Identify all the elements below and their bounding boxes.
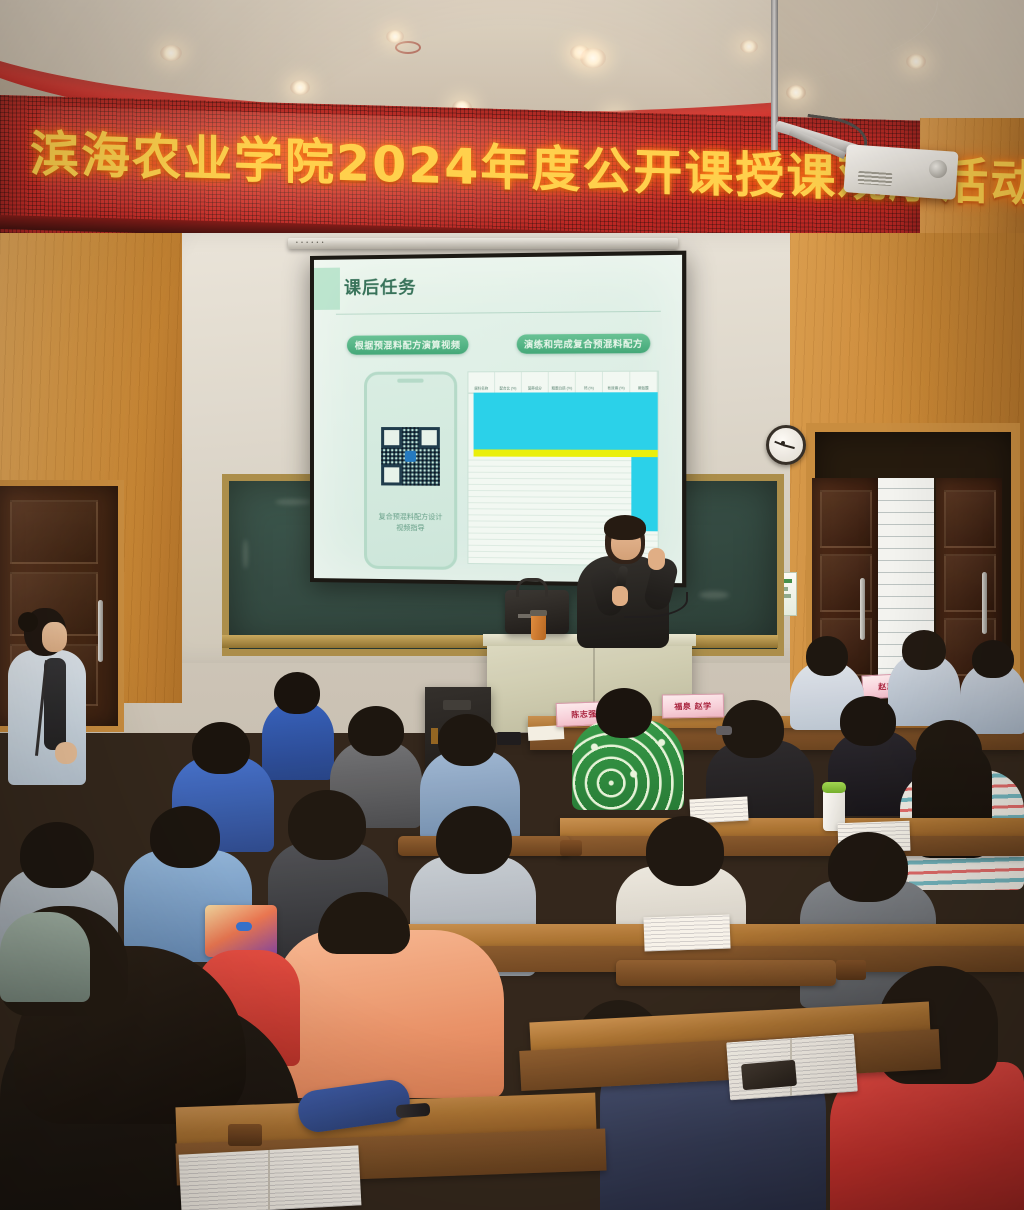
bench-backrest-2 xyxy=(616,960,836,986)
pencil-case xyxy=(741,1060,797,1091)
projector-vent-icon xyxy=(858,171,893,186)
audience-head-row2-light xyxy=(436,806,512,874)
downlight-icon xyxy=(290,80,310,95)
audience-head-back-3 xyxy=(972,640,1014,678)
audience-head-row2-far-left xyxy=(20,822,94,888)
qr-caption-line-1: 复合预混料配方设计 xyxy=(367,511,454,523)
slide-accent-block xyxy=(314,268,340,310)
nameplate-2: 福泉 赵学 xyxy=(662,693,724,718)
observer-face xyxy=(42,622,67,652)
open-book-front-left xyxy=(179,1145,362,1210)
spreadsheet-header-cell: 配合比 (%) xyxy=(495,372,522,392)
pouch-character-icon xyxy=(236,922,252,931)
roller-brand-label: • • • • • • xyxy=(296,240,324,246)
right-door-handle-left[interactable] xyxy=(860,578,865,640)
audience-head-row2-denim xyxy=(150,806,220,868)
presenter-right-hand xyxy=(648,548,665,570)
spreadsheet-header-row: 原料名称 配合比 (%) 营养成分 粗蛋白质 (%) 钙 (%) 有效磷 (%)… xyxy=(468,372,657,394)
qr-code-icon xyxy=(381,427,440,486)
bench-bracket-4 xyxy=(228,1124,262,1146)
qr-caption-line-2: 视频指导 xyxy=(367,523,454,535)
qr-center-logo xyxy=(405,451,416,462)
slide-title: 课后任务 xyxy=(344,273,417,299)
slide-phone-mockup: 复合预混料配方设计 视频指导 xyxy=(364,371,457,570)
right-door-handle-right[interactable] xyxy=(982,572,987,634)
presenter-hair xyxy=(604,515,646,540)
slide-divider xyxy=(336,311,661,315)
orange-mug xyxy=(531,614,546,640)
open-book-row2 xyxy=(643,915,730,952)
phone-notch-icon xyxy=(397,379,423,383)
slide-task-pill-right: 演练和完成复合预混料配方 xyxy=(517,334,651,354)
downlight-icon xyxy=(160,45,182,61)
audience-person-orange-shirt xyxy=(276,930,504,1098)
wall-clock xyxy=(766,425,806,465)
observer-inner-top xyxy=(44,658,66,750)
audience-head-back-4 xyxy=(274,672,320,714)
clock-center-pin xyxy=(781,441,785,445)
spreadsheet-yellow-highlight xyxy=(474,449,658,457)
speaker-driver-icon xyxy=(443,700,471,710)
ceiling-vent-icon xyxy=(395,41,421,54)
audience-head-back-2 xyxy=(902,630,946,670)
spreadsheet-header-cell: 原料名称 xyxy=(468,372,495,392)
spreadsheet-cyan-highlight xyxy=(474,392,658,450)
audience-head-back-1 xyxy=(806,636,848,676)
desk-row-3-skirt xyxy=(560,836,1024,856)
smartphone-on-desk xyxy=(497,732,521,745)
bench-bracket-1 xyxy=(560,840,582,856)
audience-head-row2-ponytail xyxy=(288,790,366,860)
spreadsheet-header-cell: 赖氨酸 xyxy=(630,372,657,393)
audience-head-row2-right xyxy=(828,832,908,902)
observer-hands xyxy=(55,742,77,764)
desk-papers xyxy=(528,725,565,741)
audience-head-light-blue xyxy=(438,714,496,766)
audience-head-row2-white xyxy=(646,816,724,886)
left-door-handle[interactable] xyxy=(98,600,103,662)
observer-hair-bun xyxy=(18,612,38,632)
qr-caption: 复合预混料配方设计 视频指导 xyxy=(367,511,454,534)
book-spine-front-left xyxy=(268,1150,270,1210)
downlight-icon xyxy=(740,40,758,53)
umbrella-handle xyxy=(396,1103,431,1118)
audience-head-gray-top xyxy=(348,706,404,756)
spreadsheet-header-cell: 钙 (%) xyxy=(576,372,603,393)
audience-person-red-shirt-front xyxy=(830,1062,1024,1210)
downlight-icon xyxy=(580,48,606,68)
downlight-icon xyxy=(786,85,806,100)
spreadsheet-header-cell: 有效磷 (%) xyxy=(603,372,630,393)
clock-minute-hand-icon xyxy=(783,444,795,449)
speaker-side-label xyxy=(431,728,438,744)
downlight-icon xyxy=(906,54,926,69)
spreadsheet-header-cell: 粗蛋白质 (%) xyxy=(549,372,576,393)
audience-head-green-blouse xyxy=(596,688,652,738)
downlight-icon xyxy=(386,30,404,43)
spreadsheet-header-cell: 营养成分 xyxy=(522,372,549,392)
audience-head-blue-shirt xyxy=(192,722,250,774)
bench-bracket-3 xyxy=(836,960,866,980)
slide-task-pill-left: 根据预混料配方演算视频 xyxy=(347,335,468,355)
bag-handle-icon xyxy=(516,578,548,597)
projector-lens-icon xyxy=(929,160,947,178)
audience-glasses-icon xyxy=(716,726,732,735)
audience-person-teal-left xyxy=(0,912,90,1002)
mug-lid xyxy=(530,610,547,616)
lecture-hall-photo: 滨海农业学院2024年度公开课授课观摩活动 xyxy=(0,0,1024,1210)
thermos-lid xyxy=(822,782,846,793)
audience-head-dark-top xyxy=(840,696,896,746)
projection-screen-roller[interactable] xyxy=(288,238,678,249)
